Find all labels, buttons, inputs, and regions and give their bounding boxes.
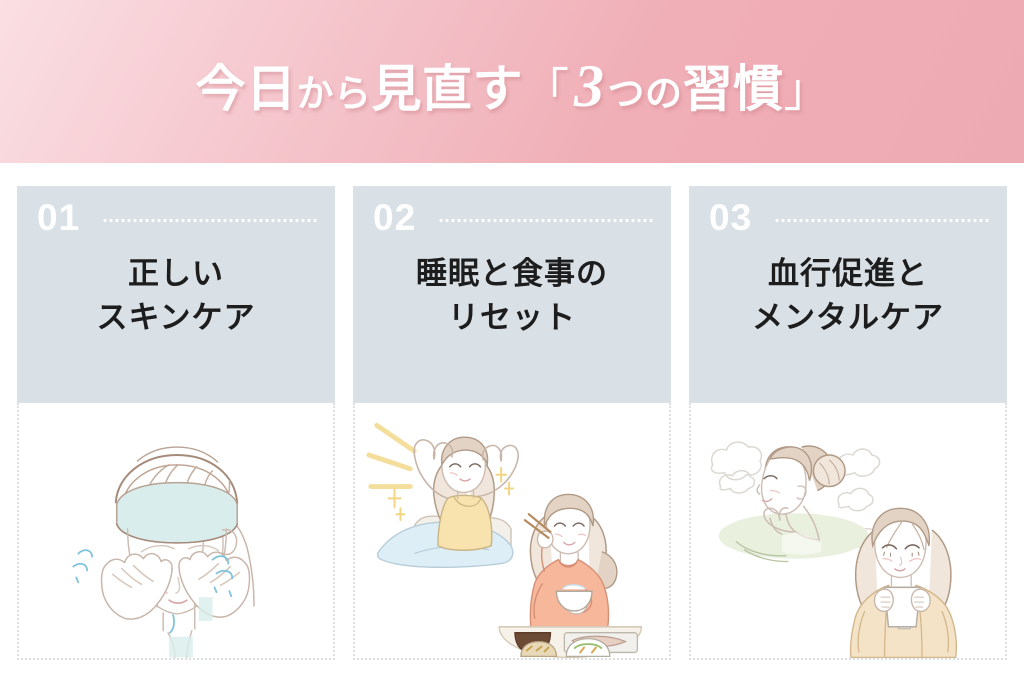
title-part-1: 今日 — [196, 64, 297, 114]
card-number-row-02: 02 — [353, 186, 671, 236]
card-title-01: 正しい スキンケア — [17, 252, 335, 340]
slide-root: 今日 から 見直す 「 3 つの 習慣 」 01 正しい スキンケア — [0, 0, 1024, 683]
dotted-rule-icon — [438, 219, 653, 222]
card-title-line2-02: リセット — [363, 296, 661, 340]
card-header-03: 03 血行促進と メンタルケア — [689, 186, 1007, 403]
card-title-line1-01: 正しい — [27, 252, 325, 296]
page-title: 今日 から 見直す 「 3 つの 習慣 」 — [196, 56, 829, 116]
dotted-rule-icon — [774, 219, 989, 222]
title-bracket-open: 「 — [523, 67, 568, 113]
title-number-three: 3 — [568, 56, 608, 116]
title-part-4: つの — [608, 75, 683, 112]
habit-card-01[interactable]: 01 正しい スキンケア — [17, 186, 335, 660]
card-number-row-01: 01 — [17, 186, 335, 236]
habit-card-03[interactable]: 03 血行促進と メンタルケア — [689, 186, 1007, 660]
card-header-01: 01 正しい スキンケア — [17, 186, 335, 403]
card-number-03: 03 — [709, 199, 752, 236]
title-bracket-close: 」 — [784, 67, 829, 113]
title-part-2: から — [297, 75, 372, 112]
title-part-3: 見直す — [372, 64, 524, 114]
woman-bathing-and-drinking-illustration — [691, 403, 1005, 658]
dotted-rule-icon — [102, 219, 317, 222]
card-title-03: 血行促進と メンタルケア — [689, 252, 1007, 340]
card-title-line2-03: メンタルケア — [699, 296, 997, 340]
card-body-03 — [689, 403, 1007, 660]
header-banner: 今日 から 見直す 「 3 つの 習慣 」 — [0, 0, 1024, 163]
card-title-line1-02: 睡眠と食事の — [363, 252, 661, 296]
habit-card-02[interactable]: 02 睡眠と食事の リセット — [353, 186, 671, 660]
card-body-01 — [17, 403, 335, 660]
card-title-line2-01: スキンケア — [27, 296, 325, 340]
card-number-row-03: 03 — [689, 186, 1007, 236]
card-number-01: 01 — [37, 199, 80, 236]
card-header-02: 02 睡眠と食事の リセット — [353, 186, 671, 403]
card-title-02: 睡眠と食事の リセット — [353, 252, 671, 340]
woman-waking-and-eating-illustration — [355, 403, 669, 658]
title-part-5: 習慣 — [683, 64, 784, 114]
card-body-02 — [353, 403, 671, 660]
woman-washing-face-illustration — [19, 403, 333, 658]
habit-card-list: 01 正しい スキンケア — [17, 186, 1007, 660]
card-number-02: 02 — [373, 199, 416, 236]
card-title-line1-03: 血行促進と — [699, 252, 997, 296]
